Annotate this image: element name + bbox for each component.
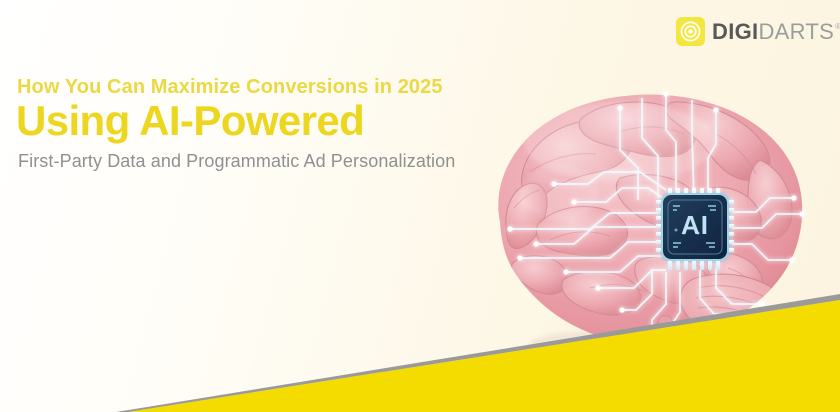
bullseye-target-icon [676, 17, 705, 46]
headline-block: How You Can Maximize Conversions in 2025… [16, 76, 556, 172]
headline-subtitle: First-Party Data and Programmatic Ad Per… [18, 151, 556, 173]
headline-kicker: How You Can Maximize Conversions in 2025 [17, 76, 556, 98]
page-title: Using AI-Powered [16, 100, 556, 143]
ai-chip-label: AI [681, 210, 709, 240]
ai-chip: AI [656, 188, 734, 270]
digidarts-logo[interactable]: DIGI DARTS ® [676, 17, 840, 46]
logo-digi-text: DIGI [712, 21, 758, 43]
promo-banner: AI How You Can Maximize Conversions in 2… [0, 0, 840, 412]
logo-darts-text: DARTS [758, 21, 834, 43]
logo-wordmark: DIGI DARTS ® [712, 21, 840, 43]
registered-mark-icon: ® [835, 23, 840, 31]
